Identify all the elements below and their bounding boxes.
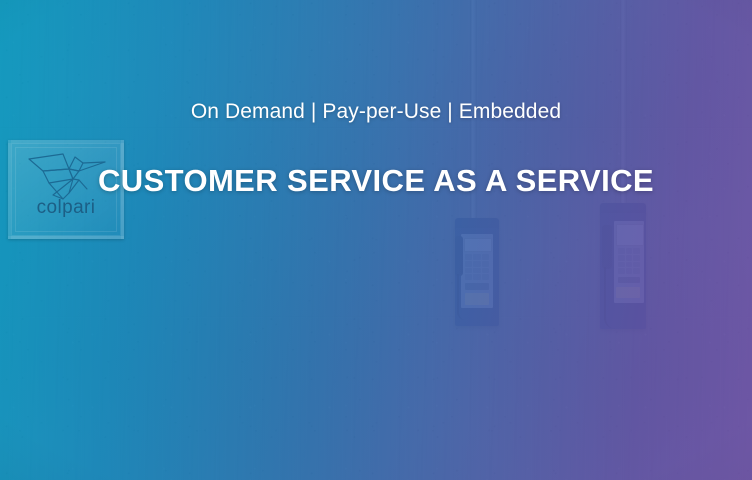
hero-banner: colpari On Demand | Pay-per-Use | Embedd… [0,0,752,480]
banner-eyebrow-text: On Demand | Pay-per-Use | Embedded [0,100,752,124]
banner-headline: CUSTOMER SERVICE AS A SERVICE [0,163,752,199]
duotone-color-boost [0,0,752,480]
colpari-wordmark: colpari [11,197,121,219]
